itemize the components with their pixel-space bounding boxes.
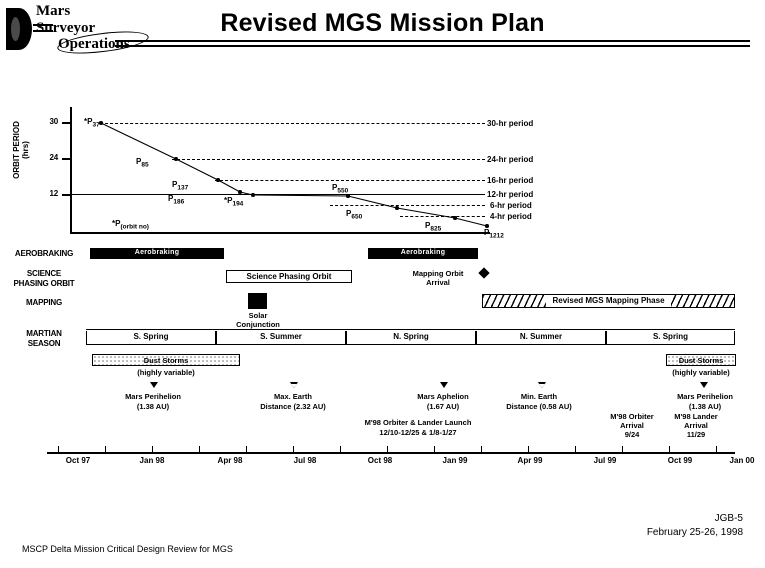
event-4-line1: Mars Perihelion bbox=[677, 392, 733, 401]
solar-conjunction-line2: Conjunction bbox=[236, 320, 280, 329]
time-tick-minor-3 bbox=[246, 446, 247, 452]
event-2-line1: Mars Aphelion bbox=[417, 392, 468, 401]
event-label-mars-aphelion: Mars Aphelion (1.67 AU) bbox=[400, 392, 486, 411]
row-label-season-line1: MARTIAN bbox=[26, 329, 61, 338]
m98-lander-line3: 11/29 bbox=[687, 430, 705, 439]
time-label-2: Apr 98 bbox=[218, 456, 243, 465]
time-tick-minor-2 bbox=[199, 446, 200, 452]
orbit-number-note: *P(orbit no) bbox=[112, 219, 149, 231]
event-4-line2: (1.38 AU) bbox=[689, 402, 721, 411]
row-label-science-line1: SCIENCE bbox=[27, 269, 61, 278]
data-label-P825: P825 bbox=[425, 221, 441, 233]
mission-timeline: AEROBRAKING Aerobraking Aerobraking SCIE… bbox=[0, 243, 765, 473]
m98-orbiter-line1: M'98 Orbiter bbox=[610, 412, 653, 421]
time-label-4: Oct 98 bbox=[368, 456, 392, 465]
row-label-season-line2: SEASON bbox=[28, 339, 61, 348]
footer-review-title: MSCP Delta Mission Critical Design Revie… bbox=[22, 544, 233, 554]
mapping-phase-text: Revised MGS Mapping Phase bbox=[546, 295, 670, 307]
data-label-P186: P186 bbox=[168, 194, 184, 206]
footer-chart-id: JGB-5 bbox=[647, 512, 743, 526]
mars-perihelion-marker-2-icon bbox=[700, 382, 708, 388]
data-point-P825 bbox=[453, 216, 457, 220]
revised-mgs-mapping-phase-bar: Revised MGS Mapping Phase bbox=[482, 294, 735, 308]
m98-launch-line1: M'98 Orbiter & Lander Launch bbox=[365, 418, 472, 427]
event-3-line1: Min. Earth bbox=[521, 392, 557, 401]
mapping-arrival-line2: Arrival bbox=[426, 278, 450, 287]
dust-storms-label-right: Dust Storms bbox=[679, 356, 724, 365]
row-label-science-line2: PHASING ORBIT bbox=[14, 279, 75, 288]
event-label-max-earth-distance: Max. Earth Distance (2.32 AU) bbox=[246, 392, 340, 411]
time-tick-oct97 bbox=[105, 446, 106, 452]
event-label-mars-perihelion-1: Mars Perihelion (1.38 AU) bbox=[110, 392, 196, 411]
data-label-P37: *P37 bbox=[84, 117, 100, 129]
mapping-arrival-line1: Mapping Orbit bbox=[413, 269, 464, 278]
event-label-min-earth-distance: Min. Earth Distance (0.58 AU) bbox=[492, 392, 586, 411]
solar-conjunction-line1: Solar bbox=[249, 311, 268, 320]
dust-storms-label-left: Dust Storms bbox=[144, 356, 189, 365]
event-2-line2: (1.67 AU) bbox=[427, 402, 459, 411]
event-label-mars-perihelion-2: Mars Perihelion (1.38 AU) bbox=[662, 392, 748, 411]
time-tick-minor-1 bbox=[152, 446, 153, 452]
row-label-martian-season: MARTIAN SEASON bbox=[0, 329, 88, 348]
time-label-7: Jul 99 bbox=[594, 456, 617, 465]
data-label-P85: P85 bbox=[136, 157, 149, 169]
season-cell-2: N. Spring bbox=[346, 331, 476, 344]
dust-storms-variability-left: (highly variable) bbox=[92, 368, 240, 378]
mapping-orbit-arrival-label: Mapping Orbit Arrival bbox=[394, 269, 482, 287]
orbit-period-chart: ORBIT PERIOD (hrs) 30 24 12 30-hr period… bbox=[0, 95, 765, 245]
time-label-6: Apr 99 bbox=[518, 456, 543, 465]
time-label-1: Jan 98 bbox=[140, 456, 165, 465]
time-label-9: Jan 00 bbox=[730, 456, 755, 465]
m98-orbiter-line3: 9/24 bbox=[625, 430, 640, 439]
time-tick-minor-12 bbox=[669, 446, 670, 452]
dust-storms-variability-right: (highly variable) bbox=[660, 368, 742, 378]
row-label-science-phasing-orbit: SCIENCE PHASING ORBIT bbox=[0, 269, 88, 288]
season-cell-0: S. Spring bbox=[86, 331, 216, 344]
event-0-line1: Mars Perihelion bbox=[125, 392, 181, 401]
page-title: Revised MGS Mission Plan bbox=[0, 9, 765, 38]
time-tick-start bbox=[58, 446, 59, 452]
time-tick-minor-5 bbox=[340, 446, 341, 452]
m98-lander-arrival-label: M'98 Lander Arrival 11/29 bbox=[662, 412, 730, 439]
season-band-bottom-rule bbox=[86, 344, 735, 345]
data-label-P550: P550 bbox=[332, 183, 348, 195]
solar-conjunction-label: Solar Conjunction bbox=[222, 311, 294, 329]
time-label-0: Oct 97 bbox=[66, 456, 90, 465]
m98-orbiter-line2: Arrival bbox=[620, 421, 644, 430]
data-point-P1212 bbox=[485, 224, 489, 228]
data-label-P1212: P1212 bbox=[484, 228, 504, 240]
time-label-3: Jul 98 bbox=[294, 456, 317, 465]
data-point-P85 bbox=[174, 157, 178, 161]
min-earth-distance-marker-icon bbox=[538, 382, 546, 388]
time-label-8: Oct 99 bbox=[668, 456, 692, 465]
season-cell-3: N. Summer bbox=[476, 331, 606, 344]
time-tick-minor-11 bbox=[622, 446, 623, 452]
mars-aphelion-marker-icon bbox=[440, 382, 448, 388]
m98-lander-line2: Arrival bbox=[684, 421, 708, 430]
data-label-P650: P650 bbox=[346, 209, 362, 221]
aerobraking-bar-1: Aerobraking bbox=[90, 248, 224, 259]
mars-perihelion-marker-1-icon bbox=[150, 382, 158, 388]
time-tick-minor-9 bbox=[528, 446, 529, 452]
m98-launch-line2: 12/10-12/25 & 1/8-1/27 bbox=[379, 428, 456, 437]
season-cell-1: S. Summer bbox=[216, 331, 346, 344]
event-3-line2: Distance (0.58 AU) bbox=[506, 402, 572, 411]
title-rule-top bbox=[115, 40, 750, 42]
data-point-P194 bbox=[251, 193, 255, 197]
m98-launch-label: M'98 Orbiter & Lander Launch 12/10-12/25… bbox=[318, 418, 518, 437]
data-label-P194: *P194 bbox=[224, 196, 243, 208]
data-label-P137: P137 bbox=[172, 180, 188, 192]
m98-lander-line1: M'98 Lander bbox=[674, 412, 717, 421]
event-1-line2: Distance (2.32 AU) bbox=[260, 402, 326, 411]
mission-time-axis: Oct 97 Jan 98 Apr 98 Jul 98 Oct 98 Jan 9… bbox=[0, 452, 765, 482]
dust-storms-box-right: Dust Storms bbox=[666, 354, 736, 366]
data-point-P186 bbox=[238, 190, 242, 194]
science-phasing-orbit-bar: Science Phasing Orbit bbox=[226, 270, 352, 283]
data-point-P137 bbox=[216, 178, 220, 182]
data-point-P650 bbox=[395, 206, 399, 210]
season-band-top-rule bbox=[86, 329, 735, 330]
title-rule-bottom bbox=[115, 45, 750, 47]
time-tick-minor-7 bbox=[434, 446, 435, 452]
aerobraking-bar-2: Aerobraking bbox=[368, 248, 478, 259]
footer-date: February 25-26, 1998 bbox=[647, 526, 743, 540]
event-1-line1: Max. Earth bbox=[274, 392, 312, 401]
row-label-mapping: MAPPING bbox=[0, 298, 88, 308]
time-tick-minor-8 bbox=[481, 446, 482, 452]
time-tick-minor-10 bbox=[575, 446, 576, 452]
event-0-line2: (1.38 AU) bbox=[137, 402, 169, 411]
time-tick-minor-4 bbox=[293, 446, 294, 452]
m98-orbiter-arrival-label: M'98 Orbiter Arrival 9/24 bbox=[598, 412, 666, 439]
season-cell-4: S. Spring bbox=[606, 331, 735, 344]
time-axis-line bbox=[47, 452, 735, 454]
time-label-5: Jan 99 bbox=[443, 456, 468, 465]
time-tick-minor-6 bbox=[387, 446, 388, 452]
row-label-aerobraking: AEROBRAKING bbox=[0, 249, 88, 259]
solar-conjunction-marker bbox=[248, 293, 267, 309]
footer-right: JGB-5 February 25-26, 1998 bbox=[647, 512, 743, 540]
time-tick-jan00 bbox=[716, 446, 717, 452]
dust-storms-box-left: Dust Storms bbox=[92, 354, 240, 366]
max-earth-distance-marker-icon bbox=[290, 382, 298, 388]
